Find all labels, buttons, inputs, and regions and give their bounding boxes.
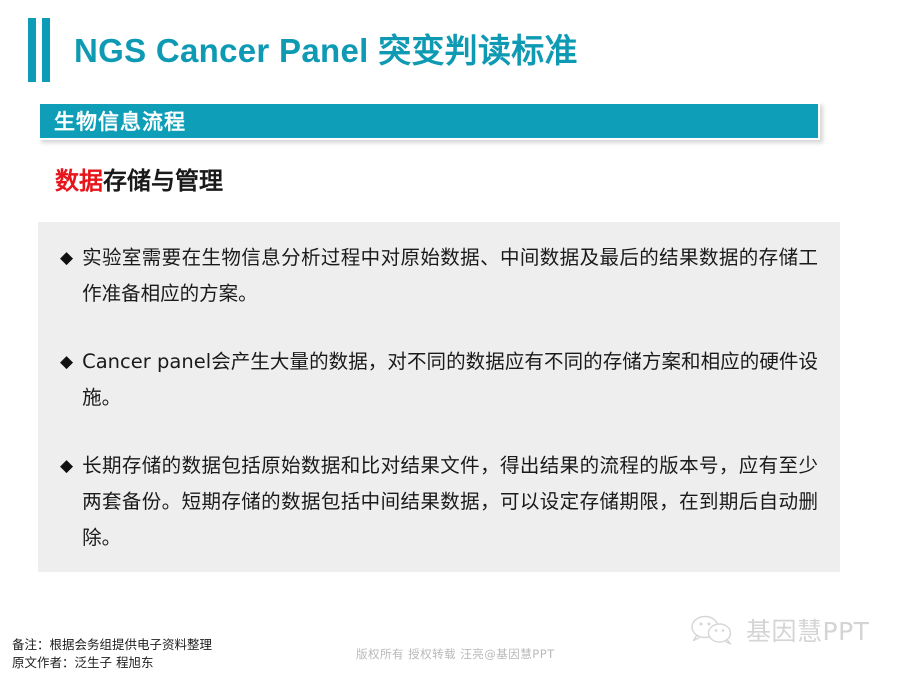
- subtitle-highlight: 数据: [55, 167, 103, 195]
- slide-title-row: NGS Cancer Panel 突变判读标准: [0, 0, 907, 92]
- title-accent-bars: [28, 18, 51, 82]
- diamond-bullet-icon: ◆: [60, 344, 73, 380]
- footer-note-line-2: 原文作者：泛生子 程旭东: [12, 654, 212, 672]
- watermark-label: 基因慧PPT: [746, 612, 869, 648]
- bullet-paragraph: ◆ 实验室需要在生物信息分析过程中对原始数据、中间数据及最后的结果数据的存储工作…: [60, 240, 818, 312]
- wechat-icon: [690, 613, 736, 647]
- bullet-paragraph-text: 实验室需要在生物信息分析过程中对原始数据、中间数据及最后的结果数据的存储工作准备…: [82, 240, 818, 312]
- bullet-paragraph: ◆ 长期存储的数据包括原始数据和比对结果文件，得出结果的流程的版本号，应有至少两…: [60, 448, 818, 556]
- watermark: 基因慧PPT: [690, 612, 869, 648]
- accent-bar-right: [42, 18, 50, 82]
- diamond-bullet-icon: ◆: [60, 448, 73, 484]
- subtitle-rest: 存储与管理: [103, 167, 223, 195]
- accent-bar-left: [28, 18, 36, 82]
- page-title-english: NGS Cancer Panel: [74, 32, 378, 69]
- section-header-bar: 生物信息流程: [38, 102, 820, 140]
- bullet-paragraph-text: Cancer panel会产生大量的数据，对不同的数据应有不同的存储方案和相应的…: [82, 344, 818, 416]
- content-panel: ◆ 实验室需要在生物信息分析过程中对原始数据、中间数据及最后的结果数据的存储工作…: [38, 222, 840, 572]
- page-title: NGS Cancer Panel 突变判读标准: [74, 30, 578, 72]
- diamond-bullet-icon: ◆: [60, 240, 73, 276]
- section-header-label: 生物信息流程: [54, 106, 186, 136]
- footer-note: 备注：根据会务组提供电子资料整理 原文作者：泛生子 程旭东: [12, 636, 212, 672]
- bullet-paragraph: ◆ Cancer panel会产生大量的数据，对不同的数据应有不同的存储方案和相…: [60, 344, 818, 416]
- page-title-chinese: 突变判读标准: [378, 31, 578, 70]
- bullet-paragraph-text: 长期存储的数据包括原始数据和比对结果文件，得出结果的流程的版本号，应有至少两套备…: [82, 448, 818, 556]
- subtitle: 数据存储与管理: [55, 165, 223, 197]
- slide-canvas: NGS Cancer Panel 突变判读标准 生物信息流程 数据存储与管理 ◆…: [0, 0, 907, 680]
- footer-note-line-1: 备注：根据会务组提供电子资料整理: [12, 636, 212, 654]
- footer-copyright: 版权所有 授权转载 汪亮@基因慧PPT: [356, 646, 555, 662]
